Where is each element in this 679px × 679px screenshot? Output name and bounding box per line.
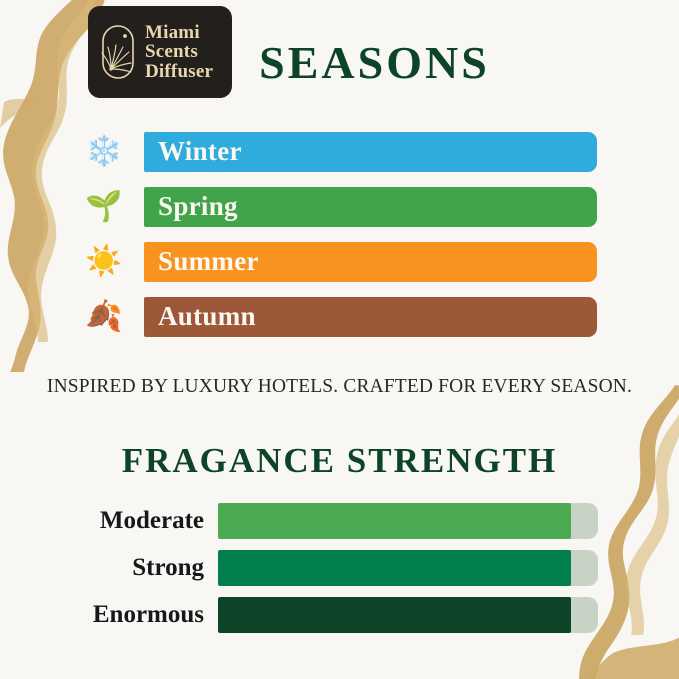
brand-logo-line-1: Miami bbox=[145, 23, 213, 42]
season-label-winter: Winter bbox=[144, 136, 242, 167]
season-label-spring: Spring bbox=[144, 191, 238, 222]
season-bar-winter: Winter bbox=[144, 132, 597, 172]
fallen-leaves-icon: 🍂 bbox=[84, 302, 124, 332]
brand-logo-wordmark: Miami Scents Diffuser bbox=[145, 23, 213, 81]
diffuser-reed-mark-icon bbox=[98, 22, 138, 82]
infographic-canvas: Miami Scents Diffuser SEASONS ❄️ Winter … bbox=[0, 0, 679, 679]
season-bar-summer: Summer bbox=[144, 242, 597, 282]
brand-logo: Miami Scents Diffuser bbox=[88, 6, 232, 98]
fragance-strength-title: FRAGANCE STRENGTH bbox=[0, 441, 679, 481]
season-bar-autumn: Autumn bbox=[144, 297, 597, 337]
season-row-spring: 🌱 Spring bbox=[0, 179, 679, 234]
strength-track-enormous bbox=[218, 597, 598, 633]
strength-label-moderate: Moderate bbox=[20, 507, 204, 535]
strength-label-strong: Strong bbox=[20, 554, 204, 582]
strength-fill-enormous bbox=[218, 597, 571, 633]
season-row-winter: ❄️ Winter bbox=[0, 124, 679, 179]
strength-bar-list: Moderate Strong Enormous bbox=[0, 497, 679, 638]
brand-logo-line-3: Diffuser bbox=[145, 62, 213, 81]
strength-label-enormous: Enormous bbox=[20, 601, 204, 629]
season-row-autumn: 🍂 Autumn bbox=[0, 289, 679, 344]
snowflake-icon: ❄️ bbox=[84, 137, 124, 167]
strength-row-enormous: Enormous bbox=[0, 591, 679, 638]
strength-row-strong: Strong bbox=[0, 544, 679, 591]
season-label-summer: Summer bbox=[144, 246, 259, 277]
brand-logo-line-2: Scents bbox=[145, 42, 213, 61]
season-bar-spring: Spring bbox=[144, 187, 597, 227]
strength-row-moderate: Moderate bbox=[0, 497, 679, 544]
strength-fill-moderate bbox=[218, 503, 571, 539]
seasons-bar-list: ❄️ Winter 🌱 Spring ☀️ Summer 🍂 Autumn bbox=[0, 124, 679, 344]
tagline: INSPIRED BY LUXURY HOTELS. CRAFTED FOR E… bbox=[10, 375, 669, 398]
sun-icon: ☀️ bbox=[84, 247, 124, 277]
season-label-autumn: Autumn bbox=[144, 301, 256, 332]
strength-fill-strong bbox=[218, 550, 571, 586]
season-row-summer: ☀️ Summer bbox=[0, 234, 679, 289]
strength-track-moderate bbox=[218, 503, 598, 539]
seedling-icon: 🌱 bbox=[84, 192, 124, 222]
strength-track-strong bbox=[218, 550, 598, 586]
